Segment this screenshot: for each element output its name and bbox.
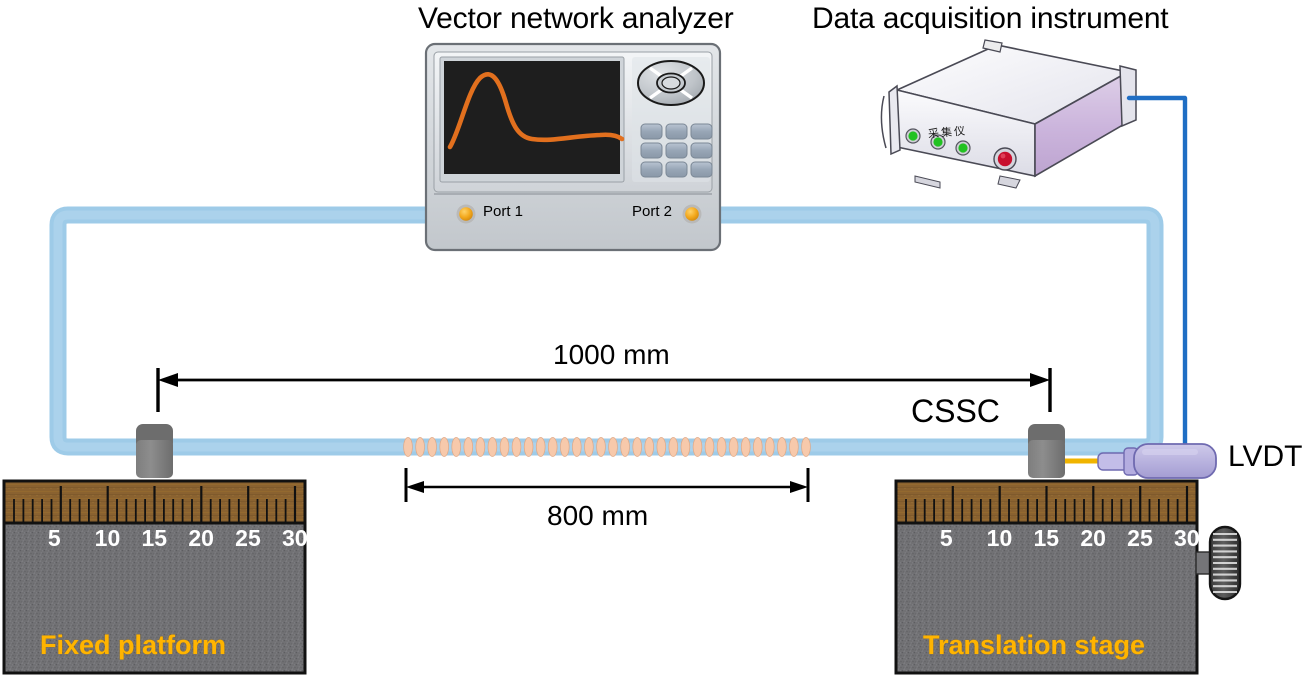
nav-wheel-icon[interactable] — [638, 61, 704, 105]
ruler-number: 25 — [235, 525, 261, 552]
cssc-coil-turn — [633, 438, 642, 457]
cssc-coil-turn — [790, 438, 799, 457]
vna-keypad-key[interactable] — [666, 162, 687, 177]
port-1-label: Port 1 — [483, 203, 523, 220]
vna-keypad-key[interactable] — [666, 124, 687, 139]
cssc-coil-turn — [802, 438, 811, 457]
cssc-coil-turn — [705, 438, 714, 457]
daq-panel-text: 采集仪 — [927, 122, 967, 141]
cssc-coil-turn — [681, 438, 690, 457]
cssc-coil-turn — [741, 438, 750, 457]
dimension-800mm — [406, 468, 808, 502]
cssc-coil-turn — [512, 438, 521, 457]
cssc-label: CSSC — [911, 393, 1000, 430]
cssc-coil-turn — [476, 438, 485, 457]
cssc-coil-turn — [488, 438, 497, 457]
daq-power-button[interactable] — [994, 148, 1016, 170]
vna-keypad-key[interactable] — [691, 124, 712, 139]
data-acquisition-instrument[interactable] — [881, 40, 1136, 188]
vna-keypad-key[interactable] — [641, 143, 662, 158]
cssc-coil-turn — [729, 438, 738, 457]
vna-control-panel[interactable] — [632, 57, 712, 182]
cssc-coil-turn — [548, 438, 557, 457]
ruler-number: 20 — [1080, 525, 1106, 552]
ruler-number: 10 — [987, 525, 1013, 552]
vna-keypad-key[interactable] — [691, 162, 712, 177]
cssc-coil-turn — [416, 438, 425, 457]
cssc-coil-turn — [765, 438, 774, 457]
vector-network-analyzer[interactable] — [426, 44, 720, 250]
cssc-coil-turn — [693, 438, 702, 457]
cssc-coil-turn — [536, 438, 545, 457]
vna-keypad-key[interactable] — [641, 162, 662, 177]
cssc-coil-turn — [753, 438, 762, 457]
ruler-number: 5 — [940, 525, 953, 552]
vna-screen — [440, 57, 624, 182]
lvdt-label: LVDT — [1228, 440, 1302, 474]
figure-canvas: Vector network analyzer Data acquisition… — [0, 0, 1304, 682]
cssc-coil-turn — [464, 438, 473, 457]
vna-port-2[interactable] — [683, 205, 702, 224]
vna-keypad[interactable] — [641, 124, 712, 177]
port-2-label: Port 2 — [632, 203, 672, 220]
cssc-coil-turn — [572, 438, 581, 457]
translation-stage-label: Translation stage — [923, 630, 1145, 661]
ruler-number: 10 — [95, 525, 121, 552]
clamp-mount-right — [1028, 424, 1065, 478]
cssc-coil-turn — [440, 438, 449, 457]
cssc-coil-turn — [560, 438, 569, 457]
ruler-number: 15 — [1034, 525, 1060, 552]
cssc-coil-turn — [404, 438, 413, 457]
ruler-number: 15 — [142, 525, 168, 552]
cssc-coil-turn — [524, 438, 533, 457]
clamp-mount-left — [136, 424, 173, 478]
fixed-platform-label: Fixed platform — [40, 630, 226, 661]
ruler-number: 30 — [1174, 525, 1200, 552]
cssc-coil-turn — [500, 438, 509, 457]
cssc-coil-turn — [428, 438, 437, 457]
cssc-coil-turn — [645, 438, 654, 457]
ruler-number: 25 — [1127, 525, 1153, 552]
vna-port-1[interactable] — [457, 205, 476, 224]
vna-keypad-key[interactable] — [641, 124, 662, 139]
cssc-coil-turn — [452, 438, 461, 457]
dimension-1000mm-label: 1000 mm — [553, 339, 670, 371]
cssc-coil-turn — [669, 438, 678, 457]
vna-keypad-key[interactable] — [691, 143, 712, 158]
ruler-number: 20 — [188, 525, 214, 552]
daq-title: Data acquisition instrument — [812, 2, 1168, 36]
dimension-800mm-label: 800 mm — [547, 500, 648, 532]
micrometer-knob[interactable] — [1196, 527, 1240, 599]
cssc-coil-turn — [585, 438, 594, 457]
ruler-number: 30 — [282, 525, 308, 552]
cssc-coil-turn — [621, 438, 630, 457]
cssc-coil-turn — [717, 438, 726, 457]
vna-title: Vector network analyzer — [418, 2, 734, 36]
cssc-coil-turn — [657, 438, 666, 457]
ruler-number: 5 — [48, 525, 61, 552]
vna-keypad-key[interactable] — [666, 143, 687, 158]
cssc-coil-turn — [597, 438, 606, 457]
cssc-coil-turn — [778, 438, 787, 457]
cssc-coil-turn — [609, 438, 618, 457]
